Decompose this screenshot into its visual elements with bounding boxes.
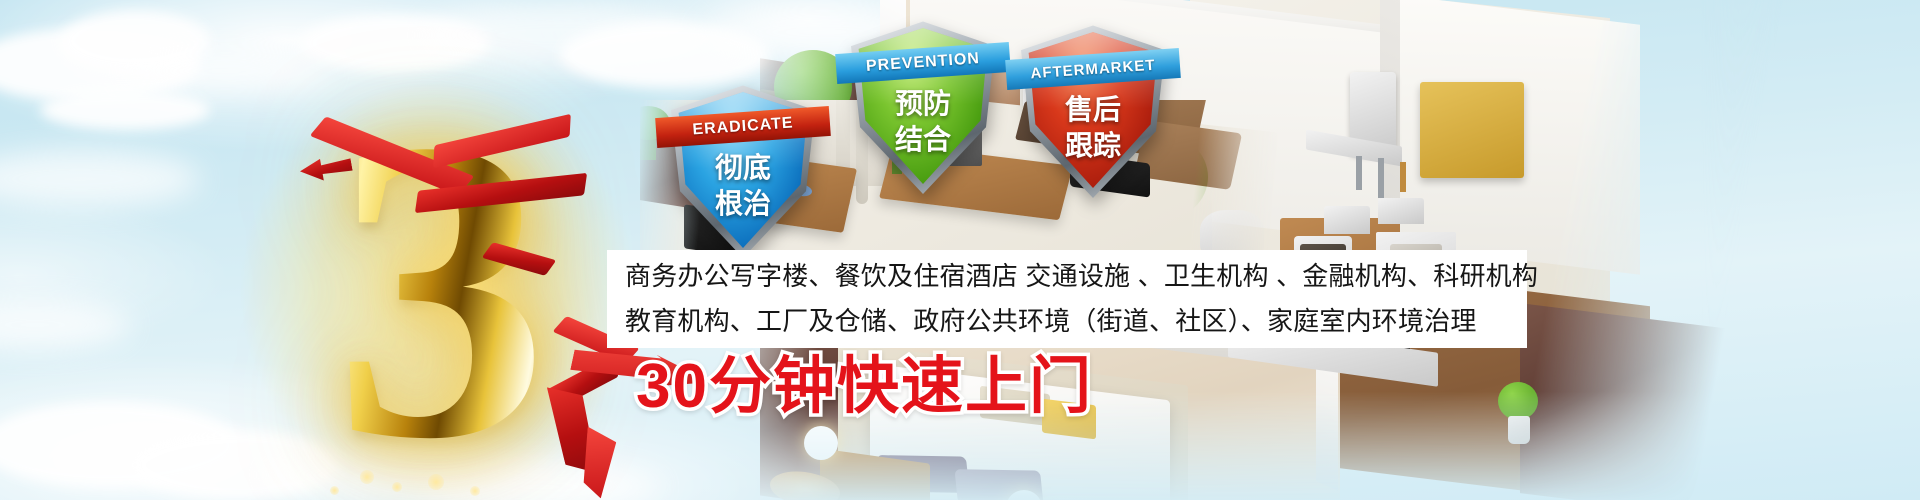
shield-chinese-line-1: 彻底 [668,146,818,186]
service-scope-line-2: 教育机构、工厂及仓储、政府公共环境（街道、社区）、家庭室内环境治理 [625,299,1509,344]
shield-chinese-line-2: 根治 [668,182,818,222]
shield-chinese-line-2: 跟踪 [1018,124,1168,164]
shield-chinese-line-1: 售后 [1018,88,1168,128]
service-scope-line-1: 商务办公写字楼、餐饮及住宿酒店 交通设施 、卫生机构 、金融机构、科研机构 [625,254,1509,299]
cloud-shape [0,150,200,208]
shield-badge-prevention: PREVENTION 预防 结合 [848,18,998,194]
shield-badge-aftermarket: AFTERMARKET 售后 跟踪 [1018,22,1168,198]
shield-chinese-line-2: 结合 [848,118,998,158]
headline-text: 30分钟快速上门 [636,356,1093,418]
cloud-shape [40,90,210,130]
promo-banner: 3 ERADICATE 彻底 根治 [0,0,1920,500]
shield-chinese-line-1: 预防 [848,82,998,122]
cloud-shape [120,48,330,94]
service-scope-panel: 商务办公写字楼、餐饮及住宿酒店 交通设施 、卫生机构 、金融机构、科研机构 教育… [607,250,1527,348]
shield-badge-eradicate: ERADICATE 彻底 根治 [668,82,818,258]
cloud-shape [0,300,130,350]
